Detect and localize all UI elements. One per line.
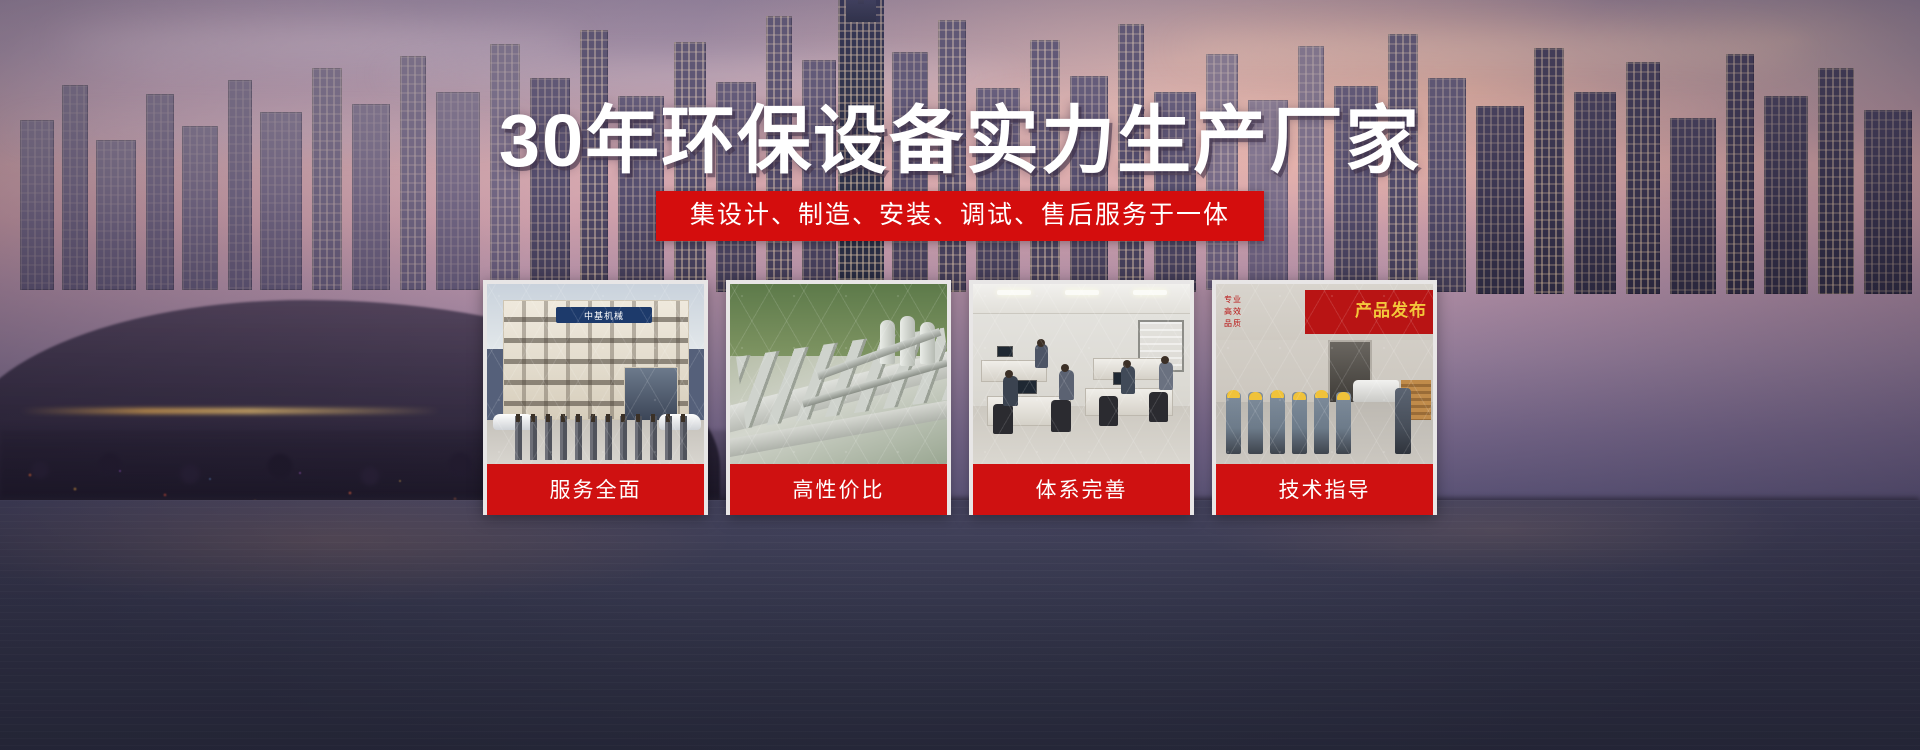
card-caption: 体系完善 — [973, 464, 1190, 515]
card-caption: 高性价比 — [730, 464, 947, 515]
card-photo — [730, 284, 947, 464]
feature-card[interactable]: 产品发布 专业 高效 品质 — [1212, 280, 1437, 515]
workshop-side-text: 专业 高效 品质 — [1224, 294, 1242, 330]
feature-card-list: 中基机械 服务全面 — [483, 280, 1437, 515]
subtitle-container: 集设计、制造、安装、调试、售后服务于一体 — [0, 191, 1920, 241]
feature-card[interactable]: 中基机械 服务全面 — [483, 280, 708, 515]
card-caption: 技术指导 — [1216, 464, 1433, 515]
card-caption: 服务全面 — [487, 464, 704, 515]
company-sign: 中基机械 — [556, 307, 652, 323]
feature-card[interactable]: 高性价比 — [726, 280, 951, 515]
page-title: 30年环保设备实力生产厂家 — [0, 104, 1920, 178]
subtitle-ribbon: 集设计、制造、安装、调试、售后服务于一体 — [656, 191, 1264, 241]
card-photo — [973, 284, 1190, 464]
workshop-banner-text: 产品发布 — [1355, 296, 1427, 321]
feature-card[interactable]: 体系完善 — [969, 280, 1194, 515]
hero-banner: 30年环保设备实力生产厂家 集设计、制造、安装、调试、售后服务于一体 中基机械 — [0, 0, 1920, 750]
card-photo: 产品发布 专业 高效 品质 — [1216, 284, 1433, 464]
card-photo: 中基机械 — [487, 284, 704, 464]
